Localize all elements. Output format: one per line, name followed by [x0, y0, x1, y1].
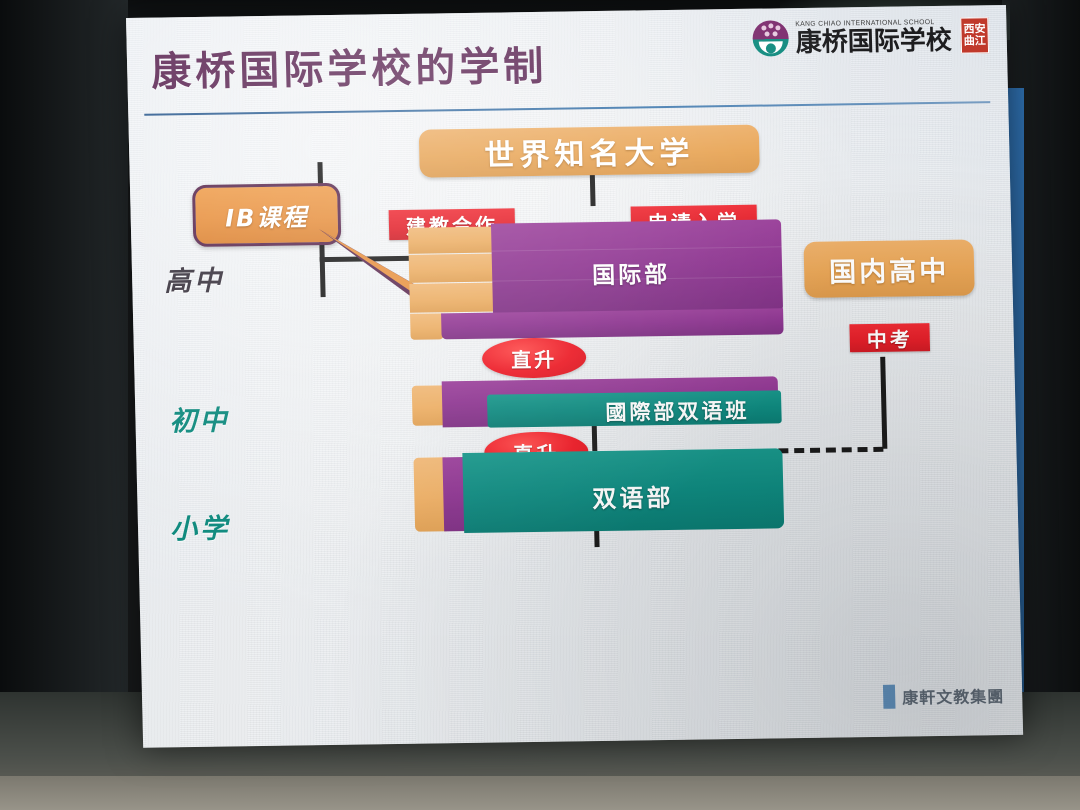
projection-room: 康桥国际学校的学制 KANG CHIAO INTERNATIONAL SCHOO… [0, 0, 1080, 810]
bar-international-dept-foot [441, 308, 784, 339]
bar-junior-bilingual-text: 國際部双语班 [605, 399, 750, 425]
logo-campus-badge: 西安 曲江 [960, 17, 989, 53]
bar-international-dept-text: 国际部 [592, 262, 671, 289]
bar-junior-bilingual-label: 國際部双语班 [605, 395, 750, 427]
segment-ib-lower [409, 283, 497, 313]
segment-junior-orange [412, 385, 445, 425]
node-domestic-high-school[interactable]: 国内高中 [803, 239, 974, 298]
callout-ib-program-label: IB课程 [225, 197, 309, 233]
bar-primary-bilingual-text: 双语部 [592, 484, 674, 513]
logo-campus-badge-line2: 曲江 [964, 35, 986, 47]
tag-zhongkao-label: 中考 [866, 323, 913, 353]
tag-zhongkao[interactable]: 中考 [849, 323, 930, 352]
page-title: 康桥国际学校的学制 [151, 34, 548, 98]
floor-strip [0, 776, 1080, 810]
footer-brand: 康軒文教集團 [883, 683, 1005, 709]
footer-brand-text: 康軒文教集團 [902, 683, 1005, 709]
footer-accent-bar [883, 685, 896, 709]
node-domestic-high-school-label: 国内高中 [829, 248, 950, 289]
stage-label-primary: 小学 [170, 506, 231, 546]
stage-label-high-school: 高中 [164, 259, 225, 299]
segment-ib-middle [409, 254, 497, 283]
callout-ib-tail-fill [318, 231, 418, 293]
bar-primary-bilingual-label: 双语部 [592, 478, 674, 514]
node-world-universities[interactable]: 世界知名大学 [419, 125, 760, 178]
stage-label-junior-high: 初中 [169, 398, 230, 438]
node-world-universities-label: 世界知名大学 [484, 128, 695, 175]
bar-international-dept-label: 国际部 [592, 255, 671, 290]
stage-label-high-school-text: 高中 [164, 266, 225, 298]
stage-label-junior-high-text: 初中 [169, 405, 230, 437]
tag-direct-promotion-upper-label: 直升 [511, 343, 558, 373]
school-logo: KANG CHIAO INTERNATIONAL SCHOOL 康桥国际学校 西… [752, 17, 989, 56]
segment-ib-top [408, 227, 496, 254]
stage-label-primary-text: 小学 [170, 513, 231, 545]
title-divider [144, 101, 990, 116]
projected-slide: 康桥国际学校的学制 KANG CHIAO INTERNATIONAL SCHOO… [126, 5, 1023, 748]
logo-campus-badge-line1: 西安 [963, 23, 985, 35]
connector-dashed-to-domestic [778, 447, 883, 454]
wall-left [0, 0, 128, 810]
tag-direct-promotion-upper[interactable]: 直升 [482, 337, 587, 379]
kangchiao-logo-icon [752, 20, 789, 57]
logo-chinese-name: 康桥国际学校 [795, 27, 952, 55]
connector-domestic-vertical [880, 357, 887, 449]
segment-ib-foot [410, 313, 444, 339]
connector-bus-to-international [320, 257, 326, 297]
